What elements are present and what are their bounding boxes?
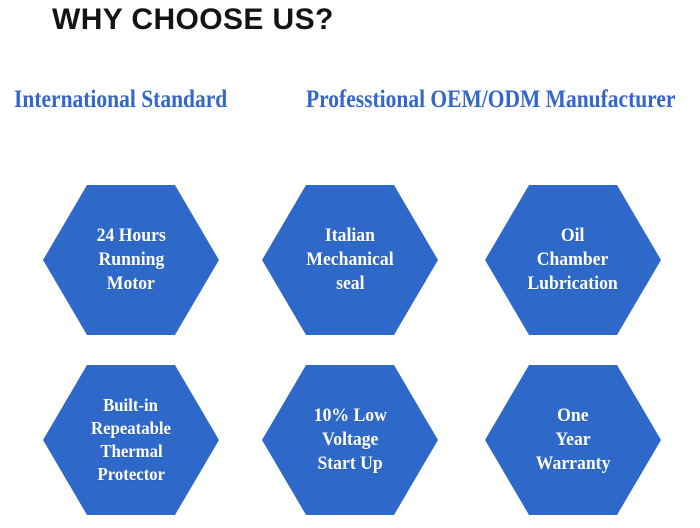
feature-label-line: Year <box>555 428 590 452</box>
feature-label: OilChamberLubrication <box>477 185 669 335</box>
feature-hexagon-grid: 24 HoursRunningMotorItalianMechanicalsea… <box>0 0 700 528</box>
feature-label-line: Thermal <box>100 440 162 463</box>
feature-label-line: Oil <box>561 224 585 248</box>
feature-label-line: 24 Hours <box>96 224 165 248</box>
feature-hexagon-10-percent-low-voltage-start-up: 10% LowVoltageStart Up <box>262 365 438 515</box>
feature-label-line: Running <box>98 248 164 272</box>
feature-hexagon-built-in-repeatable-thermal-protector: Built-inRepeatableThermalProtector <box>43 365 219 515</box>
feature-label: 10% LowVoltageStart Up <box>254 365 446 515</box>
feature-label: 24 HoursRunningMotor <box>35 185 227 335</box>
feature-label-line: One <box>557 404 588 428</box>
feature-label-line: seal <box>336 272 364 296</box>
feature-label-line: Voltage <box>322 428 378 452</box>
feature-label-line: Chamber <box>537 248 609 272</box>
feature-label-line: Lubrication <box>528 272 618 296</box>
feature-label-line: Protector <box>97 463 165 486</box>
why-choose-us-slide: WHY CHOOSE US? International Standard Pr… <box>0 0 700 528</box>
feature-label-line: Repeatable <box>91 417 171 440</box>
feature-label-line: Start Up <box>317 452 382 476</box>
feature-hexagon-one-year-warranty: OneYearWarranty <box>485 365 661 515</box>
feature-label: Built-inRepeatableThermalProtector <box>35 365 227 515</box>
feature-label: ItalianMechanicalseal <box>254 185 446 335</box>
feature-label-line: 10% Low <box>313 404 386 428</box>
feature-label-line: Warranty <box>536 452 611 476</box>
feature-hexagon-oil-chamber-lubrication: OilChamberLubrication <box>485 185 661 335</box>
feature-label-line: Motor <box>107 272 155 296</box>
feature-label-line: Mechanical <box>306 248 393 272</box>
feature-label-line: Italian <box>325 224 375 248</box>
feature-label: OneYearWarranty <box>477 365 669 515</box>
feature-label-line: Built-in <box>104 394 159 417</box>
feature-hexagon-italian-mechanical-seal: ItalianMechanicalseal <box>262 185 438 335</box>
feature-hexagon-24-hours-running-motor: 24 HoursRunningMotor <box>43 185 219 335</box>
